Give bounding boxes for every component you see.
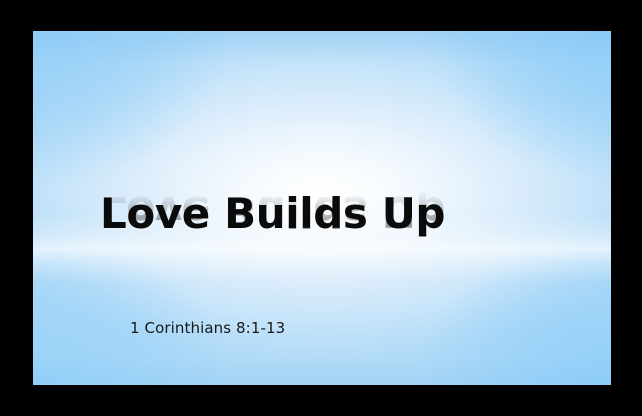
slide-subtitle: 1 Corinthians 8:1-13: [130, 318, 285, 338]
title-placeholder: Love Builds Up Love Builds Up: [100, 190, 570, 290]
slide-viewer: Love Builds Up Love Builds Up 1 Corinthi…: [0, 0, 642, 416]
slide-canvas: Love Builds Up Love Builds Up 1 Corinthi…: [33, 31, 611, 385]
slide-title: Love Builds Up: [100, 190, 570, 238]
